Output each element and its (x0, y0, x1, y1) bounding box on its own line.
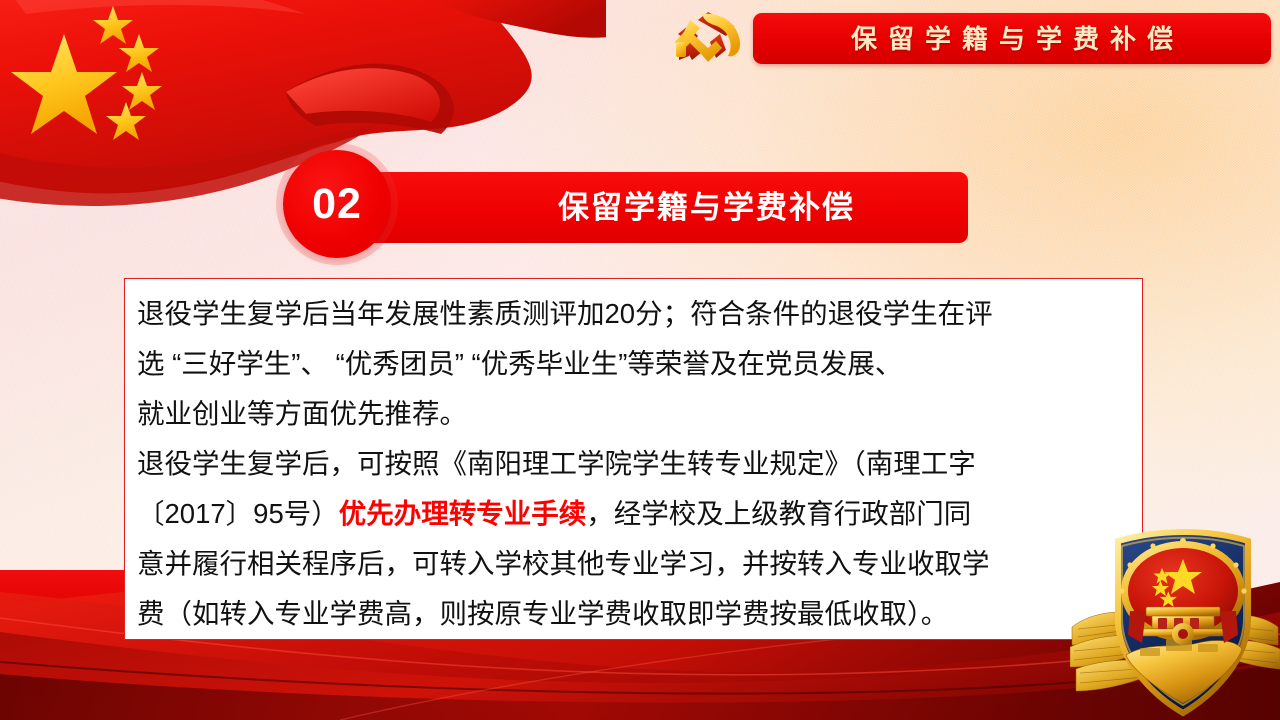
header-banner: 保留学籍与学费补偿 (753, 13, 1271, 64)
slide-canvas: 保留学籍与学费补偿 保留学籍与学费补偿 02 退役学生复学后当年发展性素质测评加… (0, 0, 1280, 720)
content-line-5-suffix: ，经学校及上级教育行政部门同 (586, 498, 971, 529)
content-line-7: 费（如转入专业学费高，则按原专业学费收取即学费按最低收取）。 (137, 589, 1130, 639)
content-line-5-highlight: 优先办理转专业手续 (339, 498, 587, 529)
content-text-box: 退役学生复学后当年发展性素质测评加20分；符合条件的退役学生在评 选 “三好学生… (124, 278, 1143, 640)
section-number-text: 02 (312, 183, 362, 226)
content-line-4: 退役学生复学后，可按照《南阳理工学院学生转专业规定》（南理工字 (137, 439, 1130, 489)
content-line-6: 意并履行相关程序后，可转入学校其他专业学习，并按转入专业收取学 (137, 539, 1130, 589)
content-line-2: 选 “三好学生”、 “优秀团员” “优秀毕业生”等荣誉及在党员发展、 (137, 339, 1130, 389)
content-line-1: 退役学生复学后当年发展性素质测评加20分；符合条件的退役学生在评 (137, 289, 1130, 339)
national-police-emblem-icon (1070, 515, 1280, 720)
section-title-bar: 保留学籍与学费补偿 (349, 172, 968, 243)
party-emblem-icon (664, 6, 756, 74)
header-banner-title: 保留学籍与学费补偿 (840, 26, 1184, 52)
content-line-3: 就业创业等方面优先推荐。 (137, 389, 1130, 439)
section-number-badge: 02 (283, 150, 391, 258)
section-title-text: 保留学籍与学费补偿 (462, 192, 855, 223)
content-line-5: 〔2017〕95号）优先办理转专业手续，经学校及上级教育行政部门同 (137, 489, 1130, 539)
content-line-5-prefix: 〔2017〕95号） (137, 498, 339, 529)
